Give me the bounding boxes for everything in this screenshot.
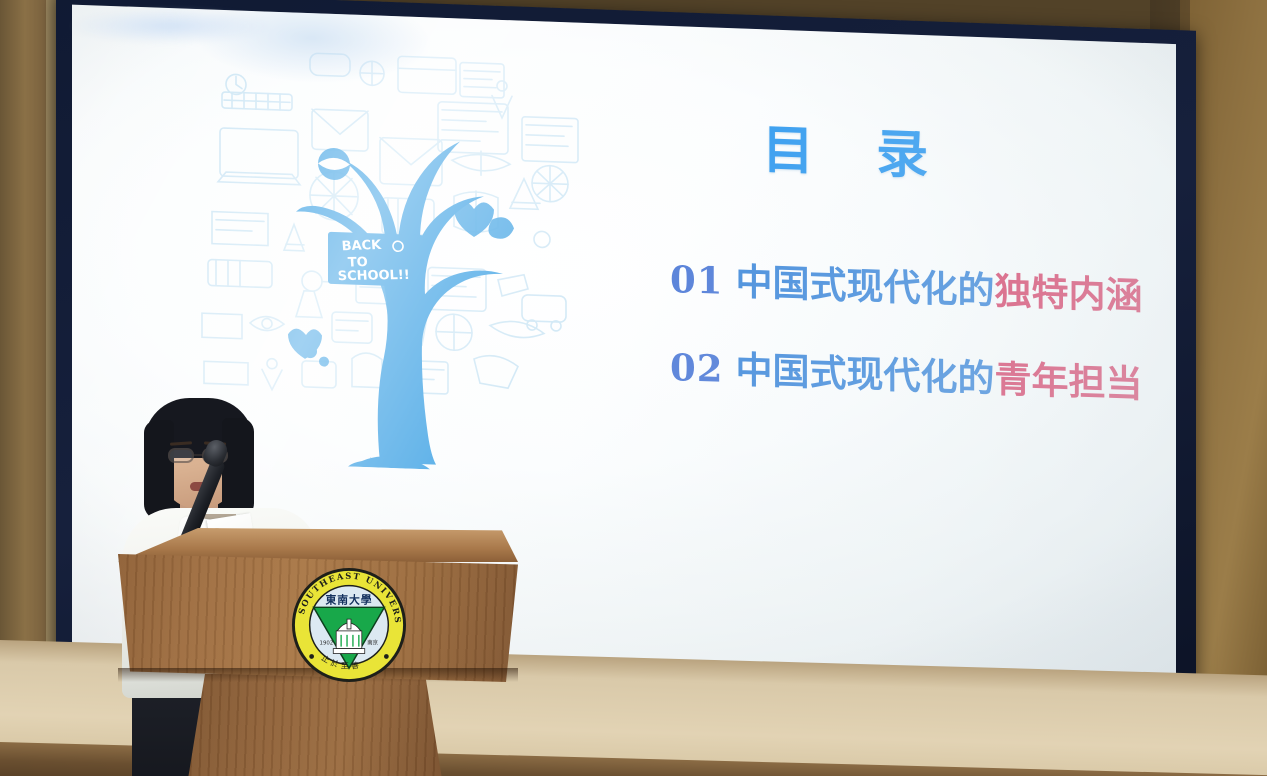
toc-number-02: 02 [670, 345, 724, 391]
toc-item-01: 01中国式现代化的独特内涵 [670, 258, 1176, 320]
toc-number-01: 01 [670, 257, 724, 303]
lectern-column [184, 674, 446, 776]
svg-text:東南大學: 東南大學 [325, 592, 372, 606]
svg-text:1902: 1902 [320, 641, 334, 647]
toc-text-blue-01: 中国式现代化的 [736, 260, 995, 312]
svg-text:南京: 南京 [367, 639, 378, 647]
toc-item-02: 02中国式现代化的青年担当 [670, 346, 1176, 408]
lectern: SOUTHEAST UNIVERSITY 止於至善 東南大學 1902 南京 [118, 528, 518, 776]
toc-text-red-01: 独特内涵 [995, 270, 1143, 318]
svg-text:BACK: BACK [341, 238, 382, 254]
toc-list: 01中国式现代化的独特内涵 02中国式现代化的青年担当 [670, 258, 1176, 452]
chalkboard: BACK TO SCHOOL!! [328, 232, 424, 287]
svg-text:SCHOOL!!: SCHOOL!! [337, 268, 410, 284]
speaker-hair-left [144, 420, 174, 520]
toc-text-blue-02: 中国式现代化的 [736, 348, 995, 400]
presentation-photo: BACK TO SCHOOL!! [0, 0, 1267, 776]
speaker-hair-right [222, 418, 254, 520]
toc-text-red-02: 青年担当 [995, 357, 1143, 405]
speaker-glasses-left [168, 448, 194, 463]
southeast-university-emblem: SOUTHEAST UNIVERSITY 止於至善 東南大學 1902 南京 [290, 566, 408, 684]
slide-title: 目 录 [762, 107, 950, 189]
lectern-wood-grain-column [184, 674, 446, 776]
